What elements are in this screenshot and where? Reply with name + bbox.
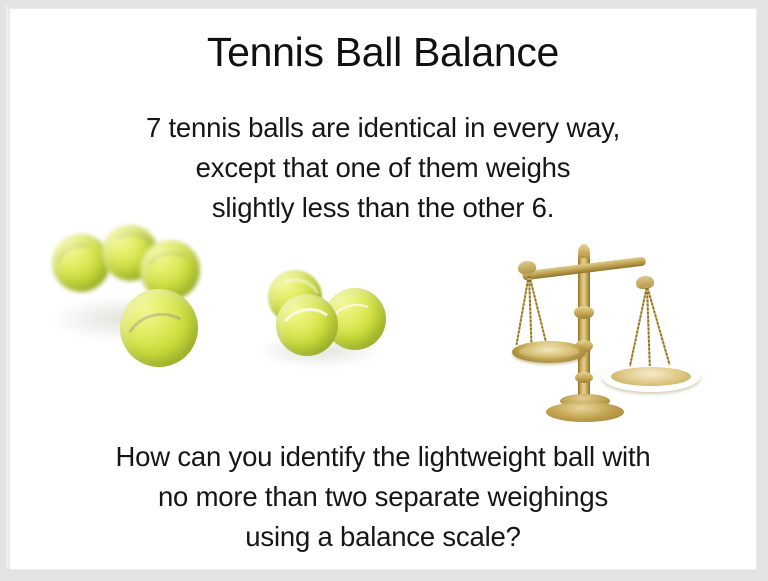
ball-seam [115,305,206,393]
intro-line-1: 7 tennis balls are identical in every wa… [10,108,756,148]
question-line-2: no more than two separate weighings [10,477,756,517]
scale-pan-left-inner [519,345,579,358]
scale-chain [629,286,648,367]
tennis-ball-foreground [276,294,338,356]
scale-base [546,402,624,422]
scale-column-knob [574,306,594,319]
brass-balance-scale-photo [508,244,723,429]
scale-column [578,258,590,406]
slide-frame: Tennis Ball Balance 7 tennis balls are i… [0,0,768,581]
question-paragraph: How can you identify the lightweight bal… [10,437,756,557]
question-line-3: using a balance scale? [10,517,756,557]
slide-canvas: Tennis Ball Balance 7 tennis balls are i… [10,9,756,569]
tennis-ball-foreground [120,289,198,367]
tennis-ball [52,234,110,292]
scale-pan-right-inner [611,367,691,386]
question-line-1: How can you identify the lightweight bal… [10,437,756,477]
page-title: Tennis Ball Balance [10,29,756,76]
intro-line-2: except that one of them weighs [10,148,756,188]
media-band [10,214,756,429]
three-tennis-balls-photo [246,262,396,382]
scale-column-knob [575,372,593,383]
intro-paragraph: 7 tennis balls are identical in every wa… [10,108,756,228]
four-tennis-balls-photo [28,214,218,389]
